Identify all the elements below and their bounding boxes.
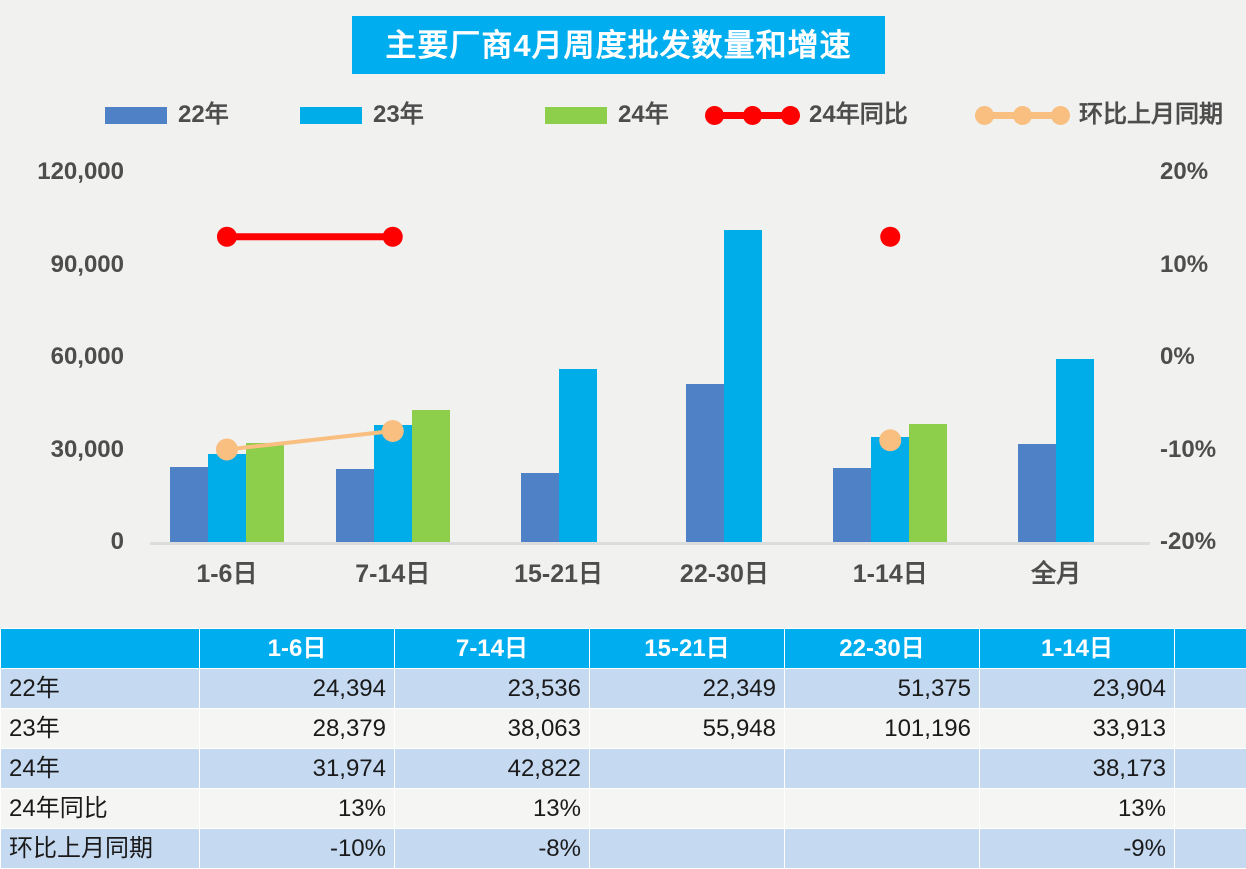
bar-22年-7-14日[interactable]: [336, 469, 374, 542]
table-row-label-24年同比: 24年同比: [1, 789, 200, 829]
table-column-header-7-14日: 7-14日: [395, 629, 590, 669]
table-cell-24年-1-14日: 38,173: [980, 749, 1175, 789]
table-header-row: 1-6日7-14日15-21日22-30日1-14日全月: [1, 629, 1246, 669]
table-cell-24年-1-6日: 31,974: [200, 749, 395, 789]
table-row-label-22年: 22年: [1, 669, 200, 709]
table-cell-22年-全月: 31,782: [1175, 669, 1246, 709]
legend-swatch-icon: [545, 107, 607, 124]
table-cell-24年-22-30日: [785, 749, 980, 789]
bar-24年-1-14日[interactable]: [909, 424, 947, 542]
x-axis-label-全月: 全月: [966, 562, 1146, 587]
legend-swatch-icon: [300, 107, 362, 124]
bar-24年-7-14日[interactable]: [412, 410, 450, 542]
legend-item-2[interactable]: 23年: [300, 92, 424, 138]
table-cell-22年-7-14日: 23,536: [395, 669, 590, 709]
table-body: 22年24,39423,53622,34951,37523,90431,7822…: [1, 669, 1246, 869]
table-column-header-22-30日: 22-30日: [785, 629, 980, 669]
table-cell-24年-7-14日: 42,822: [395, 749, 590, 789]
bar-22年-1-14日[interactable]: [833, 468, 871, 542]
bar-22年-15-21日[interactable]: [521, 473, 559, 542]
table-cell-23年-22-30日: 101,196: [785, 709, 980, 749]
table-row-label-23年: 23年: [1, 709, 200, 749]
data-table: 1-6日7-14日15-21日22-30日1-14日全月 22年24,39423…: [0, 628, 1246, 869]
bar-23年-1-6日[interactable]: [208, 454, 246, 542]
table-cell-22年-1-6日: 24,394: [200, 669, 395, 709]
table-column-header-15-21日: 15-21日: [590, 629, 785, 669]
bar-22年-全月[interactable]: [1018, 444, 1056, 542]
legend-item-3[interactable]: 24年: [545, 92, 669, 138]
left-axis-tick: 30,000: [51, 438, 124, 462]
table-cell-24年同比-1-6日: 13%: [200, 789, 395, 829]
bar-24年-1-6日[interactable]: [246, 443, 284, 542]
line-marker-24年同比-1-6日[interactable]: [217, 227, 237, 247]
line-marker-24年同比-1-14日[interactable]: [880, 227, 900, 247]
bar-23年-全月[interactable]: [1056, 359, 1094, 542]
table-row-label-24年: 24年: [1, 749, 200, 789]
table-cell-24年同比-1-14日: 13%: [980, 789, 1175, 829]
left-axis-tick: 90,000: [51, 253, 124, 277]
legend-item-5[interactable]: 环比上月同期: [975, 92, 1223, 138]
table-cell-22年-22-30日: 51,375: [785, 669, 980, 709]
table-cell-24年同比-全月: [1175, 789, 1246, 829]
legend-label: 24年: [618, 103, 669, 127]
left-axis-tick: 0: [111, 530, 124, 554]
bar-22年-22-30日[interactable]: [686, 384, 724, 542]
table-corner-cell: [1, 629, 200, 669]
x-axis-label-1-6日: 1-6日: [137, 562, 317, 587]
legend-item-1[interactable]: 22年: [105, 92, 229, 138]
axis-baseline: [150, 542, 1150, 545]
table-row: 23年28,37938,06355,948101,19633,91359,239: [1, 709, 1246, 749]
table-row: 24年同比13%13%13%: [1, 789, 1246, 829]
left-axis-tick: 120,000: [37, 160, 124, 184]
right-axis-tick: 0%: [1160, 345, 1195, 369]
chart-title: 主要厂商4月周度批发数量和增速: [385, 30, 851, 61]
table-cell-23年-7-14日: 38,063: [395, 709, 590, 749]
table-cell-24年同比-22-30日: [785, 789, 980, 829]
bar-22年-1-6日[interactable]: [170, 467, 208, 542]
legend-label: 22年: [178, 103, 229, 127]
legend-line-icon: [705, 104, 801, 126]
legend-label: 23年: [373, 103, 424, 127]
bar-23年-7-14日[interactable]: [374, 425, 412, 542]
x-axis-label-1-14日: 1-14日: [800, 562, 980, 587]
table-cell-23年-1-6日: 28,379: [200, 709, 395, 749]
legend-label: 环比上月同期: [1079, 103, 1223, 127]
table-cell-24年同比-7-14日: 13%: [395, 789, 590, 829]
legend-swatch-icon: [105, 107, 167, 124]
line-marker-24年同比-7-14日[interactable]: [383, 227, 403, 247]
table-cell-24年-全月: [1175, 749, 1246, 789]
table-cell-24年-15-21日: [590, 749, 785, 789]
table-cell-23年-15-21日: 55,948: [590, 709, 785, 749]
table-cell-23年-全月: 59,239: [1175, 709, 1246, 749]
right-axis-tick: -10%: [1160, 438, 1216, 462]
chart-title-banner: 主要厂商4月周度批发数量和增速: [352, 16, 885, 74]
table-row: 24年31,97442,82238,173: [1, 749, 1246, 789]
left-axis-tick: 60,000: [51, 345, 124, 369]
right-axis-tick: 10%: [1160, 253, 1208, 277]
table-column-header-1-14日: 1-14日: [980, 629, 1175, 669]
table-header: 1-6日7-14日15-21日22-30日1-14日全月: [1, 629, 1246, 669]
chart-page: 主要厂商4月周度批发数量和增速 22年23年24年24年同比环比上月同期 120…: [0, 0, 1246, 863]
right-axis-tick: -20%: [1160, 530, 1216, 554]
table-cell-22年-1-14日: 23,904: [980, 669, 1175, 709]
table-cell-24年同比-15-21日: [590, 789, 785, 829]
bar-23年-15-21日[interactable]: [559, 369, 597, 542]
right-axis-tick: 20%: [1160, 160, 1208, 184]
bar-23年-1-14日[interactable]: [871, 437, 909, 542]
legend-label: 24年同比: [809, 103, 908, 127]
bar-23年-22-30日[interactable]: [724, 230, 762, 542]
legend-line-icon: [975, 104, 1071, 126]
x-axis-label-15-21日: 15-21日: [469, 562, 649, 587]
table-cell-22年-15-21日: 22,349: [590, 669, 785, 709]
x-axis-label-7-14日: 7-14日: [303, 562, 483, 587]
table-column-header-1-6日: 1-6日: [200, 629, 395, 669]
table-row: 22年24,39423,53622,34951,37523,90431,782: [1, 669, 1246, 709]
legend-item-4[interactable]: 24年同比: [705, 92, 908, 138]
table-cell-23年-1-14日: 33,913: [980, 709, 1175, 749]
chart-legend: 22年23年24年24年同比环比上月同期: [0, 92, 1246, 138]
table-column-header-全月: 全月: [1175, 629, 1246, 669]
x-axis-label-22-30日: 22-30日: [634, 562, 814, 587]
